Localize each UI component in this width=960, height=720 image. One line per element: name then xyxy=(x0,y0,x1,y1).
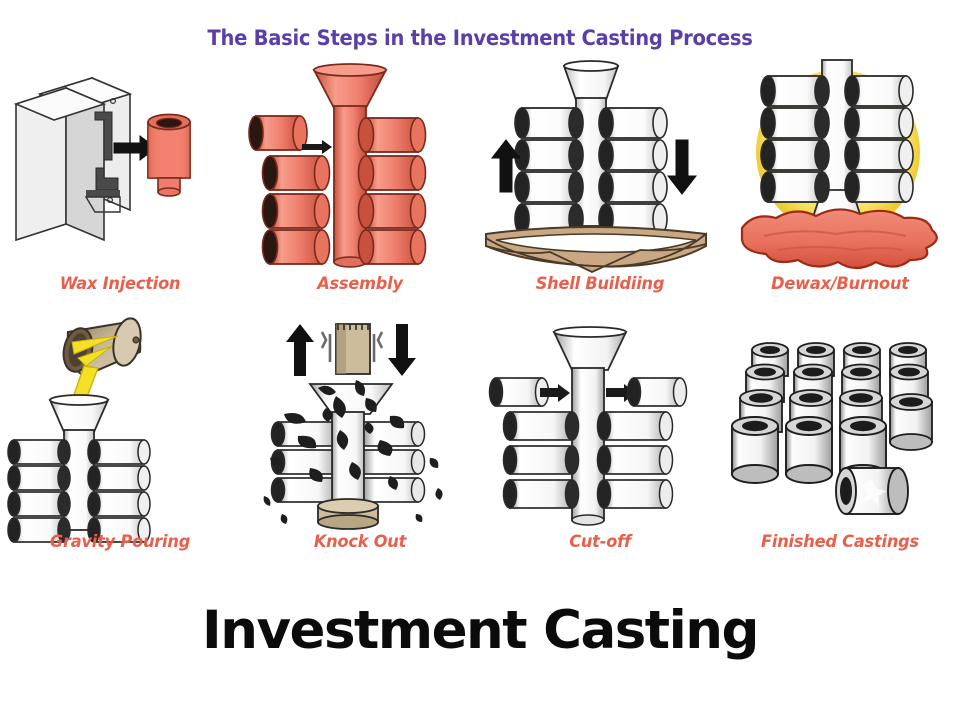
dewax-burnout-illustration xyxy=(720,60,960,275)
casting-tree xyxy=(272,384,425,508)
casting-grid xyxy=(732,343,932,483)
step-label-assembly: Assembly xyxy=(246,274,474,294)
investment-casting-poster: The Basic Steps in the Investment Castin… xyxy=(0,0,960,720)
poster-main-title: Investment Casting xyxy=(0,600,960,661)
pouring-cup xyxy=(314,64,386,108)
wax-injection-illustration xyxy=(0,60,240,275)
step-assembly: Assembly xyxy=(240,60,480,310)
up-arrow xyxy=(286,324,314,376)
molten-wax-puddle xyxy=(742,209,937,268)
step-finished-castings: Finished Castings xyxy=(720,318,960,568)
gravity-pouring-illustration xyxy=(0,318,240,533)
metal-casting-tree xyxy=(490,327,687,525)
step-label-finished-castings: Finished Castings xyxy=(726,532,954,552)
step-knock-out: Knock Out xyxy=(240,318,480,568)
page-title: The Basic Steps in the Investment Castin… xyxy=(34,26,927,50)
step-shell-building: Shell Buildiing xyxy=(480,60,720,310)
finished-castings-illustration xyxy=(720,318,960,533)
step-label-gravity-pouring: Gravity Pouring xyxy=(6,532,234,552)
pouring-ladle xyxy=(60,316,145,376)
tipped-casting xyxy=(836,468,908,514)
step-wax-injection: Wax Injection xyxy=(0,60,240,310)
dip-down-arrow xyxy=(668,140,696,194)
slurry-vat xyxy=(486,227,706,272)
step-label-shell-building: Shell Buildiing xyxy=(486,274,714,294)
step-cut-off: Cut-off xyxy=(480,318,720,568)
injection-die-block xyxy=(16,78,130,240)
wax-pattern xyxy=(148,115,190,197)
ceramic-shell-tree xyxy=(515,61,667,234)
assembly-illustration xyxy=(240,60,480,275)
step-gravity-pouring: Gravity Pouring xyxy=(0,318,240,568)
step-label-dewax-burnout: Dewax/Burnout xyxy=(726,274,954,294)
base-plate xyxy=(318,499,378,529)
knock-out-illustration xyxy=(240,318,480,533)
step-label-cut-off: Cut-off xyxy=(486,532,714,552)
step-dewax-burnout: Dewax/Burnout xyxy=(720,60,960,310)
vibrating-hammer xyxy=(322,324,382,374)
down-arrow xyxy=(388,324,416,376)
step-label-wax-injection: Wax Injection xyxy=(6,274,234,294)
step-label-knock-out: Knock Out xyxy=(246,532,474,552)
cut-off-illustration xyxy=(480,318,720,533)
wax-pattern-detached xyxy=(249,116,307,150)
shell-tree xyxy=(8,395,150,542)
inverted-shell-tree xyxy=(761,60,913,226)
shell-building-illustration xyxy=(480,60,720,275)
